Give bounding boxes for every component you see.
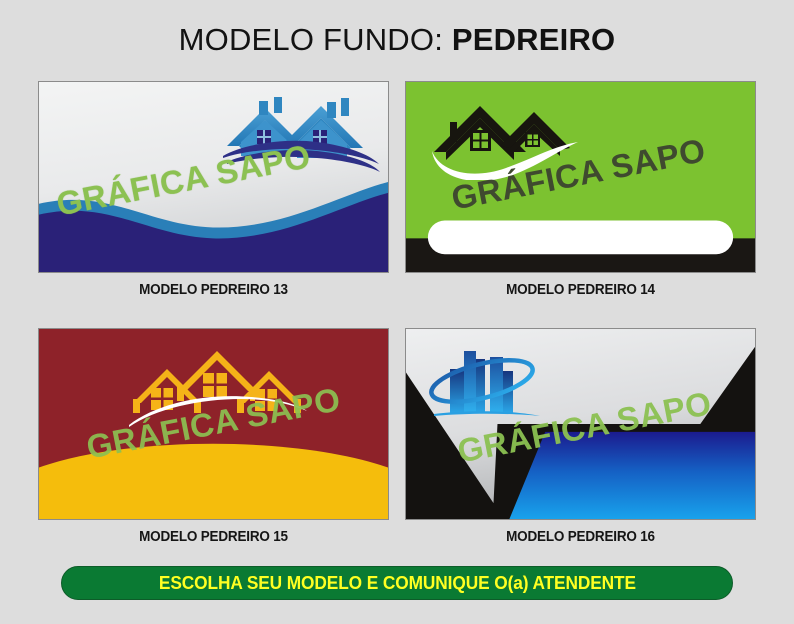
model-card-13-caption: MODELO PEDREIRO 13 [50, 282, 376, 298]
three-houses-gold-icon [127, 341, 307, 427]
model-card-16-caption: MODELO PEDREIRO 16 [417, 529, 743, 545]
twin-houses-blue-icon [221, 92, 381, 176]
model-card-16[interactable]: GRÁFICA SAPO [405, 328, 756, 520]
model-card-14-caption: MODELO PEDREIRO 14 [417, 282, 743, 298]
model-card-14-art: GRÁFICA SAPO [406, 82, 755, 272]
poster-canvas: MODELO FUNDO: PEDREIRO [0, 0, 794, 624]
page-title-highlight: PEDREIRO [452, 22, 616, 57]
model-card-13-art: GRÁFICA SAPO [39, 82, 388, 272]
twin-roofs-black-icon [428, 94, 588, 180]
model-card-15-art: GRÁFICA SAPO [39, 329, 388, 519]
skyscrapers-orbit-blue-icon [424, 341, 554, 423]
model-card-15[interactable]: GRÁFICA SAPO [38, 328, 389, 520]
page-title: MODELO FUNDO: PEDREIRO [0, 22, 794, 58]
model-card-15-caption: MODELO PEDREIRO 15 [50, 529, 376, 545]
model-card-16-art: GRÁFICA SAPO [406, 329, 755, 519]
footer-banner[interactable]: ESCOLHA SEU MODELO E COMUNIQUE O(a) ATEN… [61, 566, 733, 600]
model-card-14[interactable]: GRÁFICA SAPO [405, 81, 756, 273]
page-title-prefix: MODELO FUNDO: [179, 22, 443, 57]
model-card-13[interactable]: GRÁFICA SAPO [38, 81, 389, 273]
footer-banner-text: ESCOLHA SEU MODELO E COMUNIQUE O(a) ATEN… [158, 573, 635, 594]
